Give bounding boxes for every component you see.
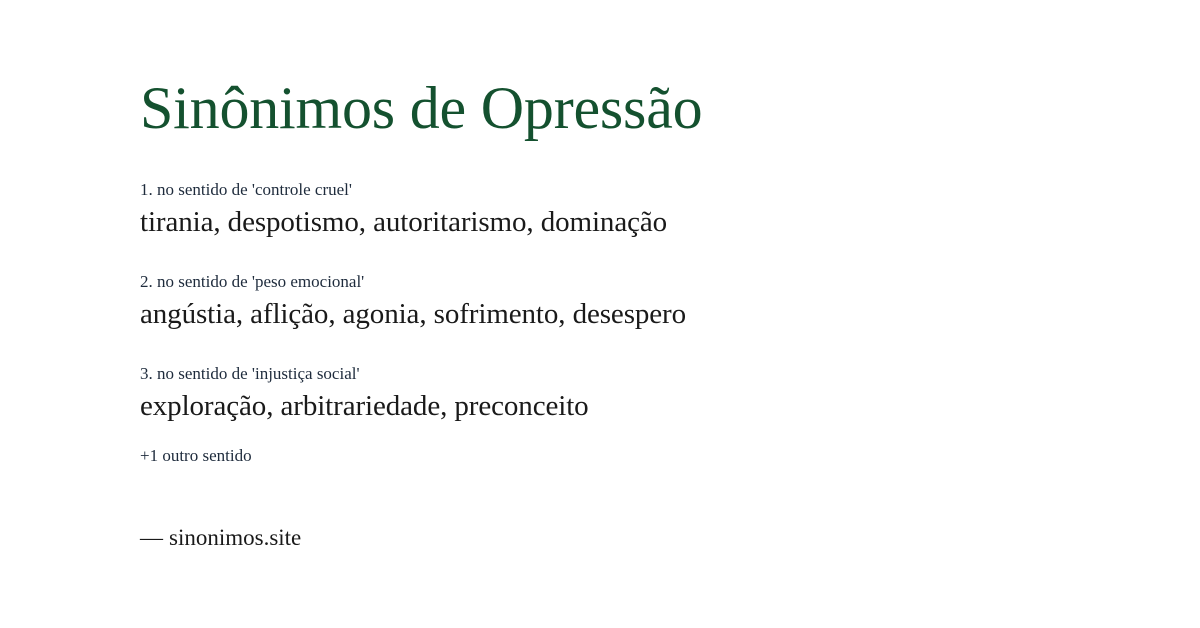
sense-label: 1. no sentido de 'controle cruel' <box>140 179 1140 202</box>
attribution: —sinonimos.site <box>140 524 301 552</box>
page-title: Sinônimos de Opressão <box>140 78 702 138</box>
sense-list: 1. no sentido de 'controle cruel' tirani… <box>140 179 1140 423</box>
sense-entry-1: 1. no sentido de 'controle cruel' tirani… <box>140 179 1140 239</box>
synonyms-share-card: Sinônimos de Opressão 1. no sentido de '… <box>0 0 1200 628</box>
source-site-label: sinonimos.site <box>169 525 301 550</box>
sense-entry-3: 3. no sentido de 'injustiça social' expl… <box>140 363 1140 423</box>
sense-entry-2: 2. no sentido de 'peso emocional' angúst… <box>140 271 1140 331</box>
sense-synonyms: exploração, arbitrariedade, preconceito <box>140 389 1140 423</box>
more-senses-note: +1 outro sentido <box>140 445 252 468</box>
sense-synonyms: tirania, despotismo, autoritarismo, domi… <box>140 205 1140 239</box>
sense-synonyms: angústia, aflição, agonia, sofrimento, d… <box>140 297 1140 331</box>
em-dash-icon: — <box>140 525 163 550</box>
sense-label: 2. no sentido de 'peso emocional' <box>140 271 1140 294</box>
sense-label: 3. no sentido de 'injustiça social' <box>140 363 1140 386</box>
